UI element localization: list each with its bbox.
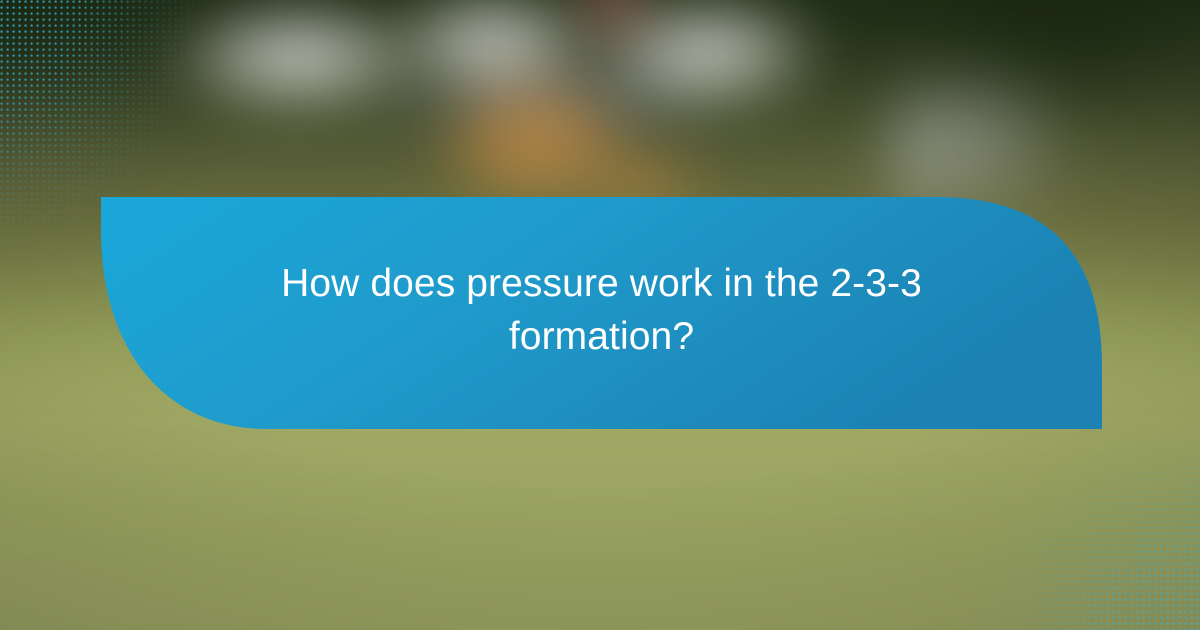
screenshot-stage: How does pressure work in the 2-3-3 form… xyxy=(0,0,1200,630)
question-card: How does pressure work in the 2-3-3 form… xyxy=(101,197,1102,429)
question-text-wrapper: How does pressure work in the 2-3-3 form… xyxy=(101,197,1102,429)
question-title: How does pressure work in the 2-3-3 form… xyxy=(272,257,932,363)
